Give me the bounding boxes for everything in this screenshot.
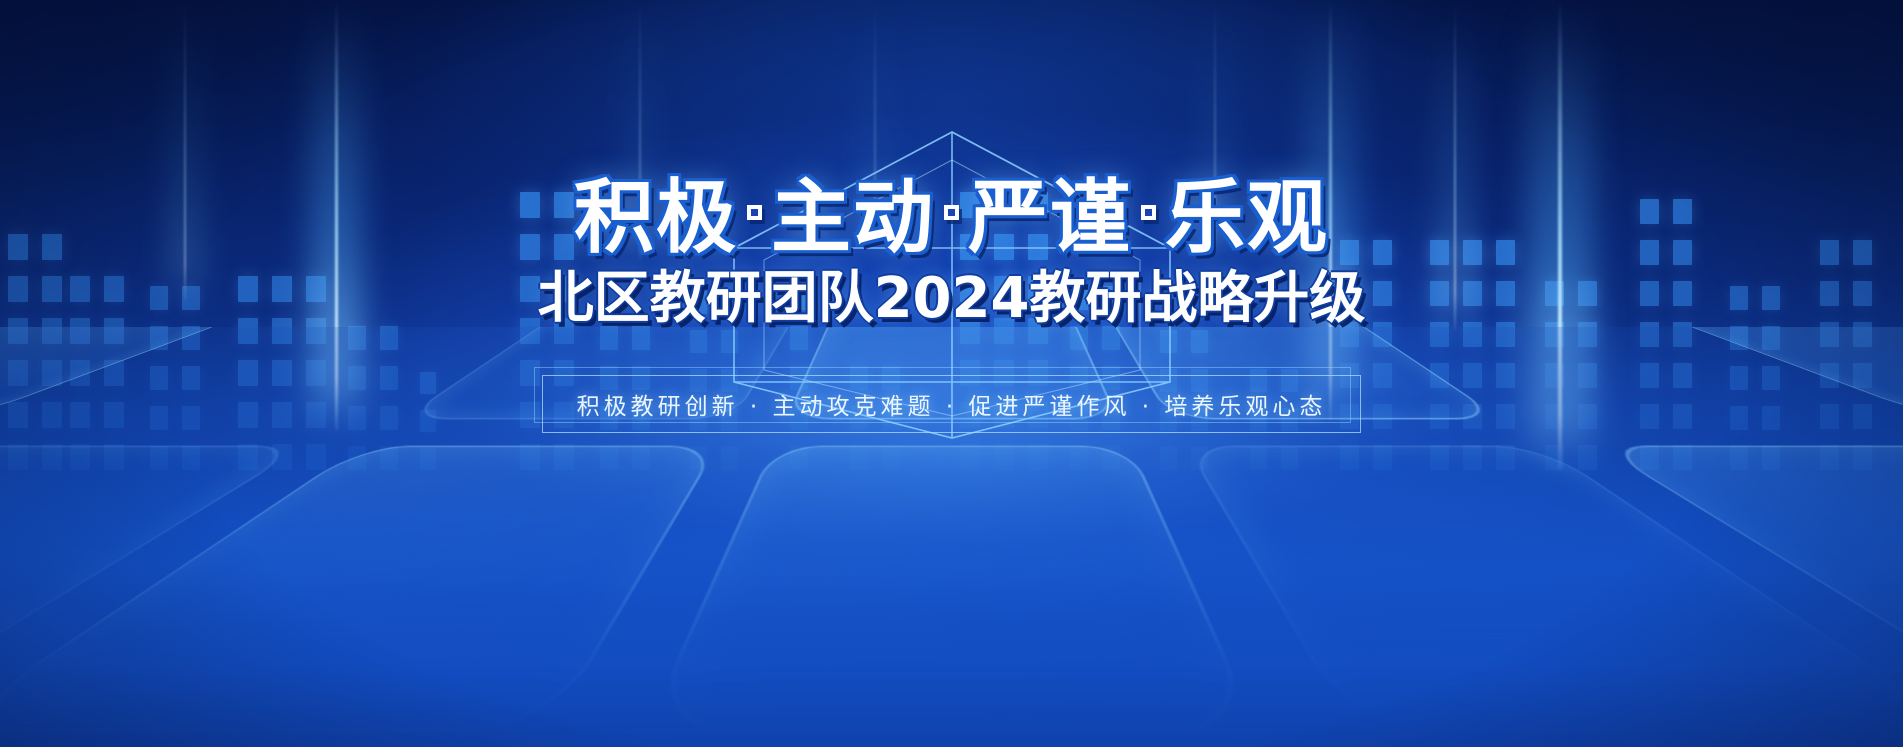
main-title: 积极主动严谨乐观 <box>574 178 1329 258</box>
title-separator-dot <box>1141 205 1156 220</box>
tagline-frame: 积极教研创新 · 主动攻克难题 · 促进严谨作风 · 培养乐观心态 <box>542 375 1362 433</box>
main-title-segment: 主动 <box>771 178 935 258</box>
title-separator-dot <box>944 205 959 220</box>
title-separator-dot <box>747 205 762 220</box>
banner-content: 积极主动严谨乐观 北区教研团队2024教研战略升级 积极教研创新 · 主动攻克难… <box>0 0 1903 747</box>
promotional-banner: 积极主动严谨乐观 北区教研团队2024教研战略升级 积极教研创新 · 主动攻克难… <box>0 0 1903 747</box>
tagline-text: 积极教研创新 · 主动攻克难题 · 促进严谨作风 · 培养乐观心态 <box>577 387 1327 421</box>
main-title-segment: 严谨 <box>968 178 1132 258</box>
main-title-segment: 乐观 <box>1165 178 1329 258</box>
subtitle: 北区教研团队2024教研战略升级 <box>538 270 1366 329</box>
main-title-segment: 积极 <box>574 178 738 258</box>
